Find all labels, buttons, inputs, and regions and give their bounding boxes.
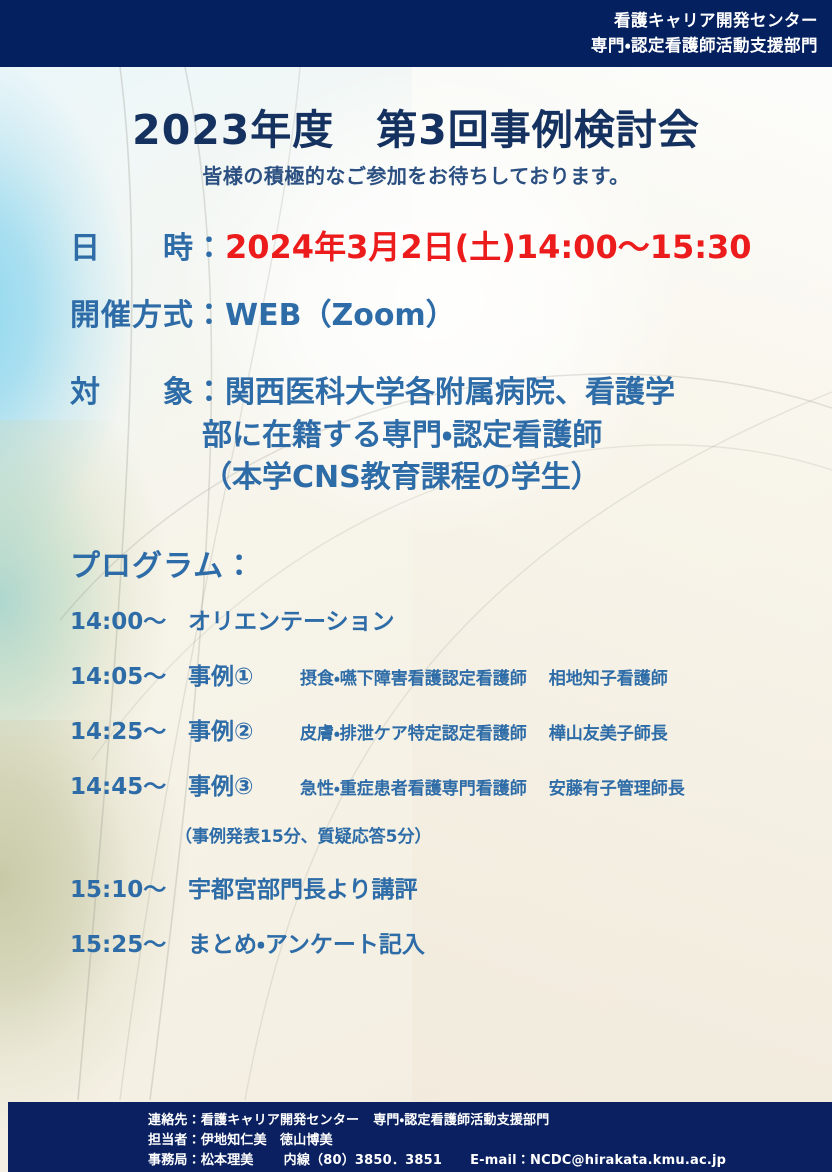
event-info-block: 日 時： 2024年3月2日(土)14:00〜15:30 開催方式： WEB（Z… — [70, 222, 820, 356]
program-title: オリエンテーション — [188, 602, 395, 636]
program-heading: プログラム： — [70, 541, 255, 585]
program-time: 14:00〜 — [70, 602, 188, 636]
footer-staff-label: 担当者： — [148, 1133, 201, 1148]
program-time: 14:25〜 — [70, 712, 188, 746]
poster-canvas: 看護キャリア開発センター 専門・認定看護師活動支援部門 2023年度 第3回事例… — [0, 0, 832, 1172]
program-speaker: 相地知子看護師 — [527, 664, 668, 689]
footer-contact-bar: 連絡先：看護キャリア開発センター専門・認定看護師活動支援部門 担当者：伊地知仁美… — [8, 1102, 832, 1172]
footer-contact-dept: 専門・認定看護師活動支援部門 — [359, 1113, 549, 1128]
program-title: 宇都宮部門長より講評 — [188, 870, 418, 904]
target-line-2: 部に在籍する専門・認定看護師 — [70, 415, 830, 458]
program-title: 事例③ — [188, 767, 300, 801]
program-speaker: 安藤有子管理師長 — [527, 774, 685, 799]
footer-contact-label: 連絡先： — [148, 1113, 201, 1128]
footer-office-name: 松本理美 — [201, 1153, 254, 1168]
program-title: まとめ・アンケート記入 — [188, 925, 425, 959]
target-line-1: 関西医科大学各附属病院、看護学 — [225, 372, 675, 415]
header-org-line1: 看護キャリア開発センター — [614, 9, 818, 34]
footer-contact-org: 看護キャリア開発センター — [201, 1113, 359, 1128]
program-title: 事例② — [188, 712, 300, 746]
program-time: 15:25〜 — [70, 925, 188, 959]
target-row-first: 対 象： 関西医科大学各附属病院、看護学 — [70, 367, 830, 415]
date-label: 日 時： — [70, 223, 225, 267]
program-time: 14:45〜 — [70, 767, 188, 801]
program-speaker: 樺山友美子師長 — [527, 719, 668, 744]
footer-email: E-mail：NCDC@hirakata.kmu.ac.jp — [442, 1153, 726, 1168]
footer-staff-names: 伊地知仁美 徳山博美 — [201, 1133, 333, 1148]
page-title: 2023年度 第3回事例検討会 — [0, 96, 832, 156]
program-row: 15:10〜 宇都宮部門長より講評 — [70, 870, 830, 925]
poster-content: 2023年度 第3回事例検討会 皆様の積極的なご参加をお待ちしております。 日 … — [0, 67, 832, 1102]
footer-contact-row: 連絡先：看護キャリア開発センター専門・認定看護師活動支援部門 — [148, 1111, 832, 1131]
program-row: 15:25〜 まとめ・アンケート記入 — [70, 925, 830, 980]
footer-staff-row: 担当者：伊地知仁美 徳山博美 — [148, 1131, 832, 1151]
program-row: 14:00〜 オリエンテーション — [70, 602, 830, 657]
program-detail: 急性・重症患者看護専門看護師 — [300, 774, 527, 799]
target-line-3: （本学CNS教育課程の学生） — [70, 457, 830, 500]
format-value: WEB（Zoom） — [225, 290, 456, 334]
header-org-line2: 専門・認定看護師活動支援部門 — [591, 34, 818, 59]
program-time: 14:05〜 — [70, 657, 188, 691]
program-time: 15:10〜 — [70, 870, 188, 904]
footer-extension: 内線（80）3850．3851 — [254, 1153, 442, 1168]
program-row: 14:05〜 事例① 摂食・嚥下障害看護認定看護師 相地知子看護師 — [70, 657, 830, 712]
program-title: 事例① — [188, 657, 300, 691]
footer-office-row: 事務局：松本理美内線（80）3850．3851E-mail：NCDC@hirak… — [148, 1151, 832, 1171]
format-label: 開催方式： — [70, 290, 225, 334]
program-list: 14:00〜 オリエンテーション 14:05〜 事例① 摂食・嚥下障害看護認定看… — [70, 602, 830, 980]
target-label: 対 象： — [70, 367, 225, 411]
program-detail: 皮膚・排泄ケア特定認定看護師 — [300, 719, 527, 744]
header-bar: 看護キャリア開発センター 専門・認定看護師活動支援部門 — [0, 0, 832, 67]
program-note: （事例発表15分、質疑応答5分） — [70, 822, 830, 870]
info-row-date: 日 時： 2024年3月2日(土)14:00〜15:30 — [70, 222, 820, 268]
date-value: 2024年3月2日(土)14:00〜15:30 — [225, 222, 752, 268]
program-row: 14:45〜 事例③ 急性・重症患者看護専門看護師 安藤有子管理師長 — [70, 767, 830, 822]
page-subtitle: 皆様の積極的なご参加をお待ちしております。 — [0, 160, 832, 189]
program-row: 14:25〜 事例② 皮膚・排泄ケア特定認定看護師 樺山友美子師長 — [70, 712, 830, 767]
footer-office-label: 事務局： — [148, 1153, 201, 1168]
info-row-format: 開催方式： WEB（Zoom） — [70, 290, 820, 334]
program-detail: 摂食・嚥下障害看護認定看護師 — [300, 664, 527, 689]
target-audience-block: 対 象： 関西医科大学各附属病院、看護学 部に在籍する専門・認定看護師 （本学C… — [70, 367, 830, 500]
